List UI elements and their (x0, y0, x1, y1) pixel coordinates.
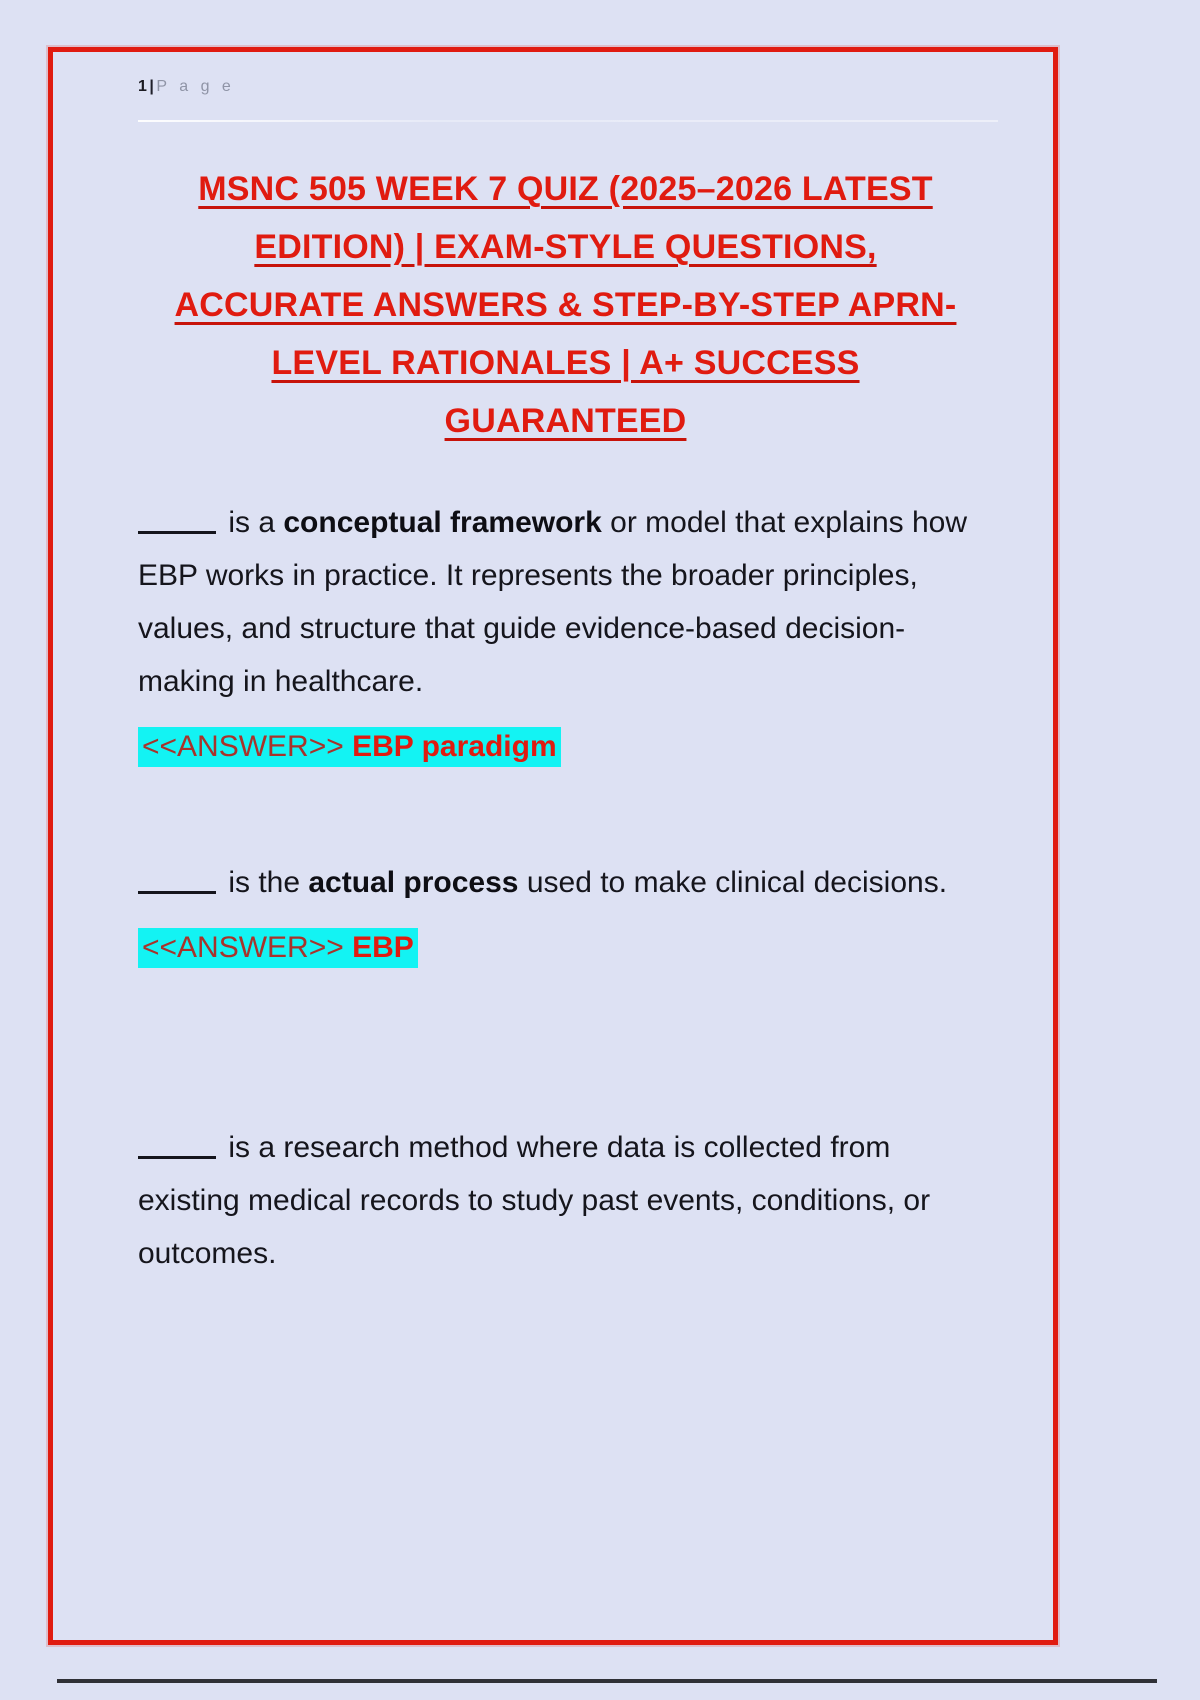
answer-tag-1: <<ANSWER>> (142, 730, 344, 763)
question-text-1: is a conceptual framework or model that … (138, 496, 993, 708)
question-2-suffix: used to make clinical decisions. (518, 866, 947, 899)
quiz-item-1: is a conceptual framework or model that … (138, 496, 993, 770)
question-2-keyword: actual process (308, 866, 518, 899)
title-line-3: ACCURATE ANSWERS & STEP-BY-STEP APRN- (175, 286, 957, 324)
spacer-after-title (138, 450, 993, 496)
answer-value-1: EBP paradigm (352, 730, 557, 763)
header-rule (138, 120, 998, 122)
title-line-1: MSNC 505 WEEK 7 QUIZ (2025–2026 LATEST (198, 170, 932, 208)
spacer-between-item-2-3 (138, 971, 993, 1121)
page-header: 1|P a g e (138, 70, 993, 122)
fill-in-blank-2 (138, 867, 216, 894)
fill-in-blank-3 (138, 1132, 216, 1159)
answer-highlight-2: <<ANSWER>> EBP (138, 928, 418, 968)
spacer-between-item-1-2 (138, 770, 993, 856)
question-text-3: is a research method where data is colle… (138, 1121, 993, 1280)
title-line-5: GUARANTEED (445, 402, 687, 440)
answer-highlight-1: <<ANSWER>> EBP paradigm (138, 727, 561, 767)
title-line-2: EDITION) | EXAM-STYLE QUESTIONS, (254, 228, 876, 266)
page-header-label: P a g e (156, 78, 234, 95)
answer-value-2: EBP (352, 931, 414, 964)
question-1-prefix: is a (220, 506, 283, 539)
answer-line-1: <<ANSWER>> EBP paradigm (138, 724, 993, 770)
document-page: 1|P a g e MSNC 505 WEEK 7 QUIZ (2025–202… (48, 47, 1058, 1645)
question-3-prefix: is a research method where data is colle… (138, 1131, 930, 1270)
next-page-edge (57, 1679, 1157, 1683)
page-header-text: 1|P a g e (138, 70, 235, 98)
page-content-area: 1|P a g e MSNC 505 WEEK 7 QUIZ (2025–202… (53, 52, 1053, 1640)
answer-tag-2: <<ANSWER>> (142, 931, 344, 964)
page-number: 1 (138, 78, 147, 95)
answer-line-2: <<ANSWER>> EBP (138, 925, 993, 971)
question-text-2: is the actual process used to make clini… (138, 856, 993, 909)
title-line-4: LEVEL RATIONALES | A+ SUCCESS (271, 344, 859, 382)
question-2-prefix: is the (220, 866, 308, 899)
question-1-keyword: conceptual framework (283, 506, 601, 539)
fill-in-blank-1 (138, 507, 216, 534)
quiz-item-2: is the actual process used to make clini… (138, 856, 993, 971)
page-title: MSNC 505 WEEK 7 QUIZ (2025–2026 LATEST E… (138, 160, 993, 450)
quiz-item-3: is a research method where data is colle… (138, 1121, 993, 1280)
